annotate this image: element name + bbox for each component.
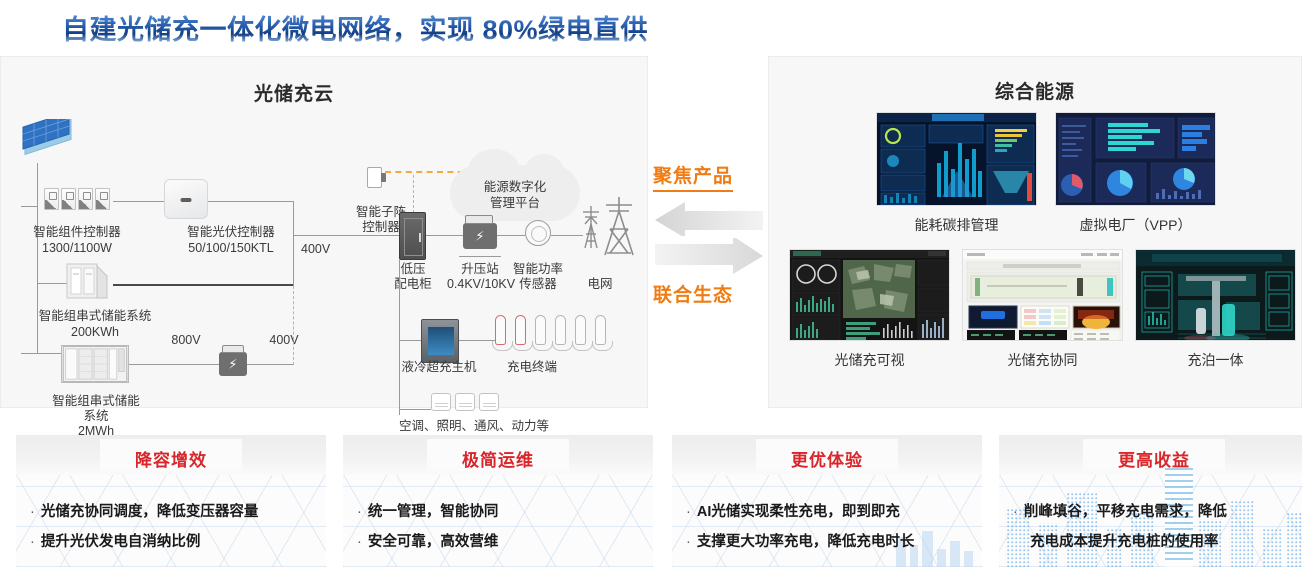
cta-joint-ecology[interactable]: 联合生态 xyxy=(653,280,733,307)
label-cloud-platform: 能源数字化 管理平台 xyxy=(450,179,580,211)
thumb-energy-carbon-dashboard[interactable] xyxy=(876,112,1037,206)
label-lcc: 液冷超充主机 xyxy=(389,360,489,375)
caption-energy-carbon: 能耗碳排管理 xyxy=(876,215,1037,235)
smart-pv-controller-icon xyxy=(164,179,208,219)
lv-distribution-cabinet-icon xyxy=(399,212,426,260)
list-item: ·光储充协同调度，降低变压器容量 xyxy=(30,497,318,527)
wire-boost-to-sensor xyxy=(497,235,525,236)
bullet-marker: · xyxy=(30,534,35,550)
benefit-card-1: 降容增效 ·光储充协同调度，降低变压器容量 ·提升光伏发电自消纳比例 xyxy=(16,435,326,567)
wire-lv-to-boost xyxy=(426,235,463,236)
card-title-2: 极简运维 xyxy=(343,446,653,471)
bullet-text: 充电成本提升充电桩的使用率 xyxy=(1030,534,1219,550)
label-ess-big-name-1: 智能组串式储能 xyxy=(11,394,181,409)
smart-power-sensor-icon xyxy=(525,220,551,246)
energy-system-diagram: 智能组件控制器 1300/1100W 智能光伏控制器 50/100/150KTL… xyxy=(1,57,647,407)
bullet-text: 提升光伏发电自消纳比例 xyxy=(41,534,201,550)
smart-module-controller-icon xyxy=(44,188,112,212)
label-voltage-800v: 800V xyxy=(151,333,221,348)
dcdc-converter-icon: ⚡ xyxy=(219,352,247,376)
arrow-left-icon xyxy=(655,200,763,236)
cta-focus-products[interactable]: 聚焦产品 xyxy=(653,161,733,192)
arrow-right-icon xyxy=(655,238,763,274)
thumb-charge-park-integrated[interactable] xyxy=(1135,249,1296,341)
wire-module-to-inverter xyxy=(113,201,164,202)
card-bullet-list-1: ·光储充协同调度，降低变压器容量 ·提升光伏发电自消纳比例 xyxy=(30,497,318,557)
thumb-pv-storage-visual[interactable] xyxy=(789,249,950,341)
wire-to-lcc xyxy=(399,340,423,341)
bullet-text: 削峰填谷，平移充电需求，降低 xyxy=(1024,504,1227,520)
label-grid: 电网 xyxy=(575,277,625,292)
smart-subarray-controller-icon xyxy=(367,167,382,188)
card-title-3: 更优体验 xyxy=(672,446,982,471)
stub-ess-big xyxy=(21,353,61,354)
solar-panel-icon xyxy=(17,119,79,165)
list-item: ·统一管理，智能协同 xyxy=(357,497,645,527)
bullet-marker: · xyxy=(686,534,691,550)
list-item: ·提升光伏发电自消纳比例 xyxy=(30,527,318,557)
bullet-marker: · xyxy=(357,534,362,550)
label-cloud-line-1: 能源数字化 xyxy=(450,179,580,195)
right-panel-heading: 综合能源 xyxy=(769,77,1301,104)
card-bullet-list-3: ·AI光储实现柔性充电，即到即充 ·支撑更大功率充电，降低充电时长 xyxy=(686,497,974,557)
label-cloud-line-2: 管理平台 xyxy=(450,195,580,211)
card-bullet-list-2: ·统一管理，智能协同 ·安全可靠，高效营维 xyxy=(357,497,645,557)
caption-charge-park-integrated: 充泊一体 xyxy=(1135,350,1296,370)
bullet-marker: · xyxy=(30,504,35,520)
string-ess-large-icon xyxy=(61,345,129,383)
wire-ess-big-left xyxy=(129,364,219,365)
boost-station-icon: ⚡ xyxy=(463,223,497,249)
wire-bus-to-lv xyxy=(293,235,399,236)
stub-module-ctrl xyxy=(21,206,37,207)
list-item: ·AI光储实现柔性充电，即到即充 xyxy=(686,497,974,527)
wire-dcdc-right xyxy=(247,364,293,365)
power-pylon-small-icon xyxy=(579,204,603,250)
list-item: ·支撑更大功率充电，降低充电时长 xyxy=(686,527,974,557)
bus-400v-vertical xyxy=(293,201,294,286)
bullet-marker: · xyxy=(357,504,362,520)
bullet-marker: · xyxy=(686,504,691,520)
bus-dashed-vertical xyxy=(293,286,294,365)
card-title-1: 降容增效 xyxy=(16,446,326,471)
card-title-4: 更高收益 xyxy=(999,446,1302,471)
list-item: 充电成本提升充电桩的使用率 xyxy=(1013,527,1301,557)
benefit-card-3: 更优体验 ·AI光储实现柔性充电，即到即充 ·支撑更大功率充电，降低充电时长 xyxy=(672,435,982,567)
thumb-vpp-dashboard[interactable] xyxy=(1055,112,1216,206)
label-lv-1: 低压 xyxy=(383,262,443,277)
benefit-card-4: 更高收益 ·削峰填谷，平移充电需求，降低 充电成本提升充电桩的使用率 xyxy=(999,435,1302,567)
hvac-lighting-loads-icon xyxy=(431,393,503,415)
wire-ess-small-bus xyxy=(113,284,293,286)
thumb-pv-storage-coordination[interactable] xyxy=(962,249,1123,341)
card-bullet-list-4: ·削峰填谷，平移充电需求，降低 充电成本提升充电桩的使用率 xyxy=(1013,497,1301,557)
label-voltage-400v-mid: 400V xyxy=(301,242,345,257)
label-module-controller-spec: 1300/1100W xyxy=(7,241,147,256)
label-pv-controller-name: 智能光伏控制器 xyxy=(151,225,311,240)
caption-pv-storage-coordination: 光储充协同 xyxy=(962,350,1123,370)
label-ess-small-name: 智能组串式储能系统 xyxy=(5,309,185,324)
right-products-panel: 综合能源 xyxy=(768,56,1302,408)
bullet-text: AI光储实现柔性充电，即到即充 xyxy=(697,504,900,520)
charging-terminals-icon xyxy=(495,315,615,353)
caption-pv-storage-visual: 光储充可视 xyxy=(789,350,950,370)
wire-lcc-to-guns xyxy=(459,340,495,341)
label-hvac-loads: 空调、照明、通风、动力等 xyxy=(389,419,559,434)
wire-to-hvac xyxy=(399,409,431,410)
wire-inverter-to-bus xyxy=(208,201,293,202)
boost-underline xyxy=(459,256,501,257)
power-pylon-large-icon xyxy=(601,195,637,257)
label-sensor-2: 传感器 xyxy=(503,277,573,292)
list-item: ·削峰填谷，平移充电需求，降低 xyxy=(1013,497,1301,527)
wire-subarray-dashed-down xyxy=(413,175,414,213)
bullet-text: 光储充协同调度，降低变压器容量 xyxy=(41,504,259,520)
page-title: 自建光储充一体化微电网络，实现 80%绿电直供 xyxy=(62,8,648,44)
bullet-text: 支撑更大功率充电，降低充电时长 xyxy=(697,534,915,550)
string-ess-small-icon xyxy=(63,262,113,300)
bullet-marker: · xyxy=(1013,504,1018,520)
left-diagram-panel: 光储充云 智能组件控制器 1300/1 xyxy=(0,56,648,408)
caption-vpp: 虚拟电厂（VPP） xyxy=(1055,215,1216,235)
bullet-text: 安全可靠，高效营维 xyxy=(368,534,499,550)
label-module-controller-name: 智能组件控制器 xyxy=(7,225,147,240)
label-voltage-400v-low: 400V xyxy=(249,333,319,348)
bus-lower-vertical xyxy=(399,260,400,415)
label-pv-controller-spec: 50/100/150KTL xyxy=(151,241,311,256)
label-sensor-1: 智能功率 xyxy=(503,262,573,277)
label-ess-big-name-2: 系统 xyxy=(11,409,181,424)
list-item: ·安全可靠，高效营维 xyxy=(357,527,645,557)
benefit-card-2: 极简运维 ·统一管理，智能协同 ·安全可靠，高效营维 xyxy=(343,435,653,567)
bullet-text: 统一管理，智能协同 xyxy=(368,504,499,520)
liquid-cooled-charger-host-icon xyxy=(421,319,459,363)
label-charging-terminal: 充电终端 xyxy=(497,360,567,375)
